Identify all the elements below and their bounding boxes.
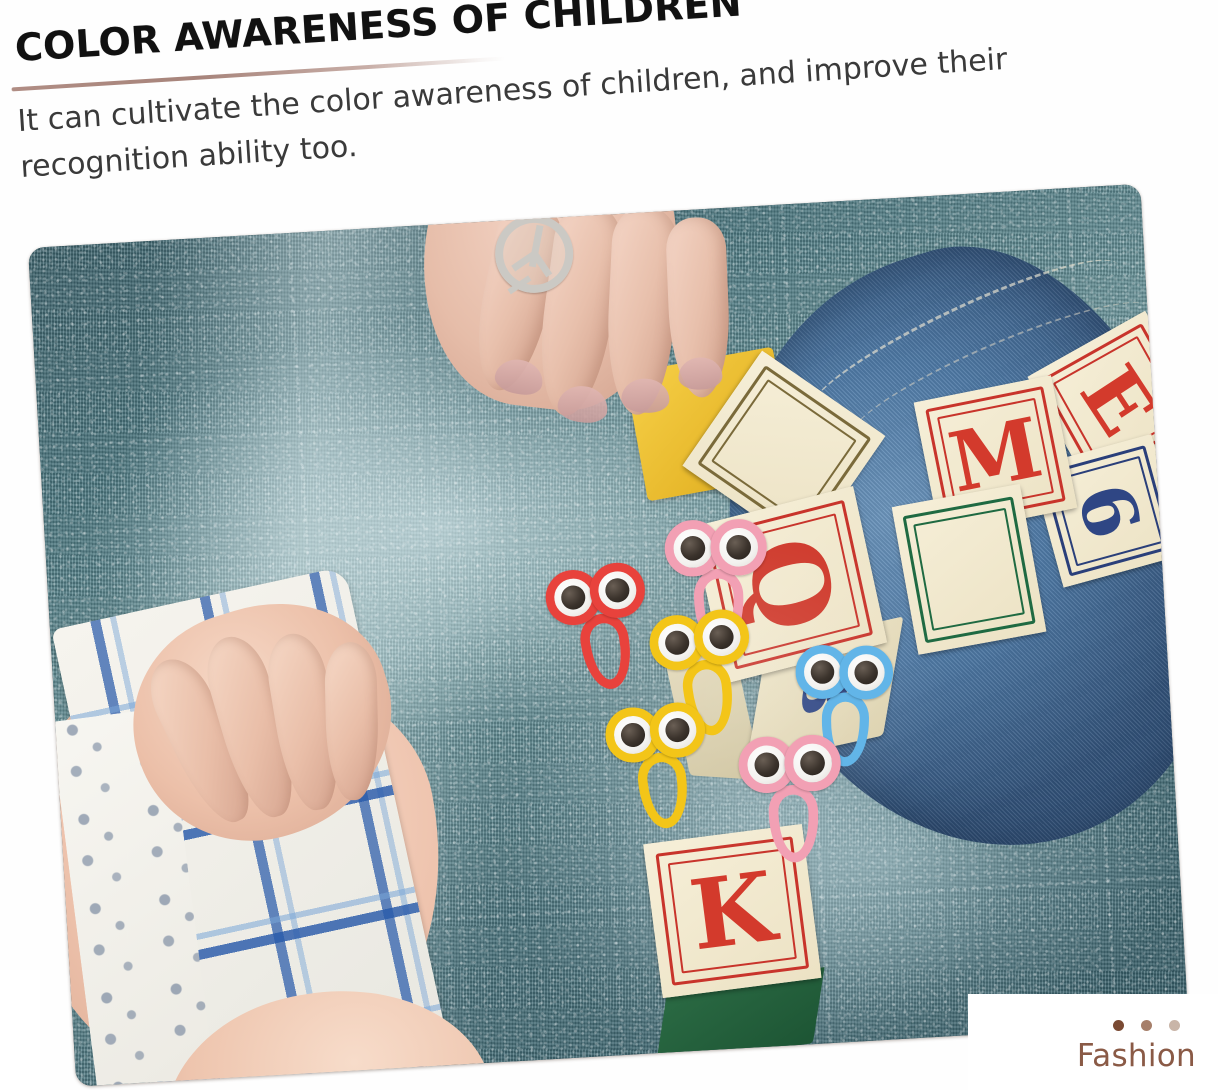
googly-eye-icon bbox=[783, 734, 842, 793]
page-margin-left bbox=[0, 970, 40, 1090]
pupil-icon bbox=[620, 722, 647, 749]
block-frame-inner-icon bbox=[913, 508, 1024, 631]
googly-eye-icon bbox=[710, 519, 768, 577]
finger-loop-icon bbox=[635, 750, 691, 831]
brand-dot-1 bbox=[1113, 1020, 1124, 1031]
block-green bbox=[892, 484, 1047, 655]
brand-footer: Fashion bbox=[1077, 1020, 1196, 1072]
brand-label: Fashion bbox=[1077, 1041, 1196, 1072]
pupil-icon bbox=[664, 717, 691, 744]
pupil-icon bbox=[800, 750, 826, 776]
pupil-icon bbox=[754, 752, 780, 778]
pupil-icon bbox=[854, 661, 878, 685]
pupil-icon bbox=[604, 576, 632, 604]
pupil-icon bbox=[726, 535, 751, 560]
brand-dots bbox=[1077, 1020, 1196, 1031]
brand-dot-2 bbox=[1141, 1020, 1152, 1031]
block-green-face bbox=[892, 484, 1047, 655]
googly-eye-icon bbox=[839, 645, 893, 699]
peace-spoke-icon bbox=[531, 252, 551, 277]
pupil-icon bbox=[680, 536, 705, 561]
eye-ring-yellow-2 bbox=[602, 698, 717, 837]
finger-loop-icon bbox=[768, 784, 820, 863]
product-lifestyle-photo: E 6 M 3 Q bbox=[28, 184, 1189, 1087]
brand-dot-3 bbox=[1169, 1020, 1180, 1031]
block-k-glyph: K bbox=[685, 858, 780, 964]
page-title: COLOR AWARENESS OF CHILDREN bbox=[14, 0, 743, 67]
pupil-icon bbox=[708, 624, 735, 651]
googly-eye-icon bbox=[647, 700, 708, 761]
pupil-icon bbox=[559, 584, 587, 612]
eye-ring-red bbox=[541, 557, 662, 701]
googly-eye-icon bbox=[691, 606, 753, 668]
finger-loop-icon bbox=[577, 610, 637, 692]
pupil-icon bbox=[811, 660, 835, 684]
pupil-icon bbox=[664, 629, 691, 656]
eye-ring-pink-2 bbox=[738, 732, 847, 868]
